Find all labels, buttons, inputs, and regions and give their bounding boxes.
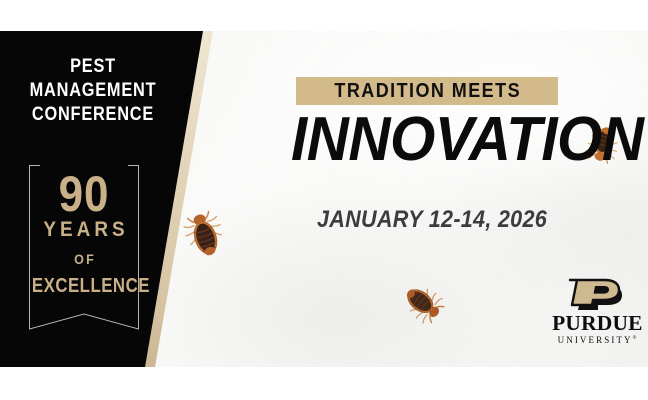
- conference-title-line-3: CONFERENCE: [13, 103, 173, 127]
- purdue-wordmark: PURDUE: [552, 312, 640, 334]
- left-panel-content: PEST MANAGEMENT CONFERENCE 90 YEARS OF E…: [0, 31, 190, 367]
- badge-number: 90: [29, 169, 138, 219]
- badge-excellence-label: EXCELLENCE: [32, 275, 136, 297]
- anniversary-badge: 90 YEARS OF EXCELLENCE: [22, 163, 146, 343]
- eyebrow-gold-band: TRADITION MEETS: [296, 77, 558, 105]
- conference-title-line-1: PEST: [13, 55, 173, 79]
- badge-years-label: YEARS: [28, 219, 140, 241]
- registered-mark: ®: [633, 336, 637, 341]
- eyebrow-text: TRADITION MEETS: [309, 77, 545, 105]
- event-dates: JANUARY 12-14, 2026: [297, 207, 567, 233]
- purdue-subwordmark: UNIVERSITY®: [553, 334, 639, 345]
- badge-of-label: OF: [28, 251, 140, 267]
- purdue-logo: PURDUE UNIVERSITY®: [553, 276, 639, 348]
- conference-title-line-2: MANAGEMENT: [13, 79, 173, 103]
- badge-tick-top-left: [29, 165, 40, 166]
- conference-title: PEST MANAGEMENT CONFERENCE: [13, 55, 173, 127]
- purdue-university-text: UNIVERSITY: [558, 335, 633, 345]
- conference-banner: PEST MANAGEMENT CONFERENCE 90 YEARS OF E…: [0, 31, 648, 367]
- headline-innovation: INNOVATION: [291, 109, 573, 171]
